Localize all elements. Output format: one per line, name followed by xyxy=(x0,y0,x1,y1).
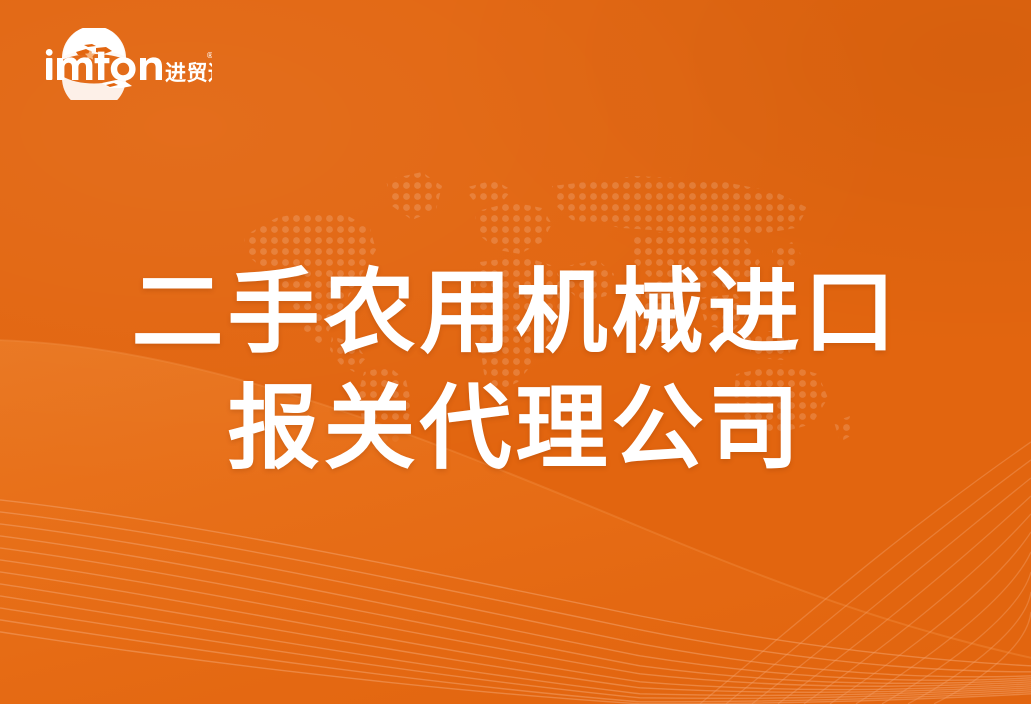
registered-trademark-icon: ® xyxy=(206,51,212,60)
background-fill xyxy=(0,0,1031,704)
imton-logo[interactable]: 进贸通 ® xyxy=(40,28,212,100)
logo-chinese-name: 进贸通 xyxy=(165,61,212,85)
promo-banner: 进贸通 ® 二手农用机械进口 报关代理公司 xyxy=(0,0,1031,704)
